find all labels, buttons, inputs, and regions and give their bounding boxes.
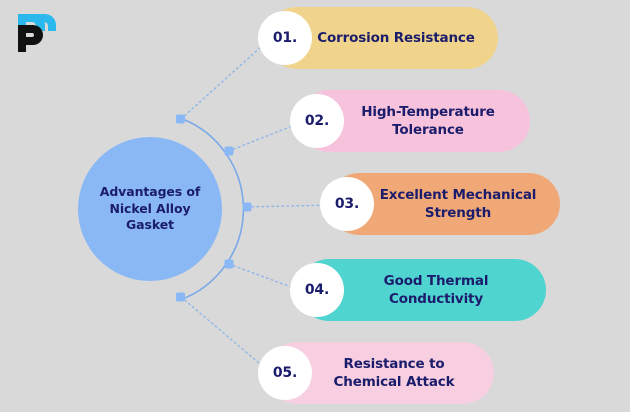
advantage-number-2: 02.	[305, 113, 329, 129]
infographic-canvas: Advantages of Nickel Alloy Gasket Corros…	[0, 0, 630, 412]
advantage-number-3: 03.	[335, 196, 359, 212]
advantage-item-3[interactable]: Excellent Mechanical Strength 03.	[328, 173, 560, 235]
advantage-badge-1: 01.	[258, 11, 312, 65]
arc-node-4	[225, 260, 234, 269]
advantage-item-1[interactable]: Corrosion Resistance 01.	[266, 7, 498, 69]
leader-line-5	[181, 297, 272, 374]
arc-node-1	[176, 115, 185, 124]
center-hub: Advantages of Nickel Alloy Gasket	[78, 137, 222, 281]
arc-node-3	[243, 203, 252, 212]
hub-title: Advantages of Nickel Alloy Gasket	[78, 184, 222, 235]
advantage-label-5: Resistance to Chemical Attack	[291, 355, 468, 391]
arc-node-2	[225, 147, 234, 156]
advantage-item-5[interactable]: Resistance to Chemical Attack 05.	[266, 342, 494, 404]
advantage-badge-4: 04.	[290, 263, 344, 317]
advantage-number-4: 04.	[305, 282, 329, 298]
advantage-label-2: High-Temperature Tolerance	[319, 103, 509, 139]
arc-node-5	[176, 293, 185, 302]
advantage-badge-5: 05.	[258, 346, 312, 400]
advantage-label-4: Good Thermal Conductivity	[342, 272, 503, 308]
advantage-number-5: 05.	[273, 365, 297, 381]
advantage-number-1: 01.	[273, 30, 297, 46]
advantage-item-4[interactable]: Good Thermal Conductivity 04.	[298, 259, 546, 321]
advantage-badge-2: 02.	[290, 94, 344, 148]
advantage-item-2[interactable]: High-Temperature Tolerance 02.	[298, 90, 530, 152]
advantage-badge-3: 03.	[320, 177, 374, 231]
leader-line-1	[181, 37, 272, 119]
